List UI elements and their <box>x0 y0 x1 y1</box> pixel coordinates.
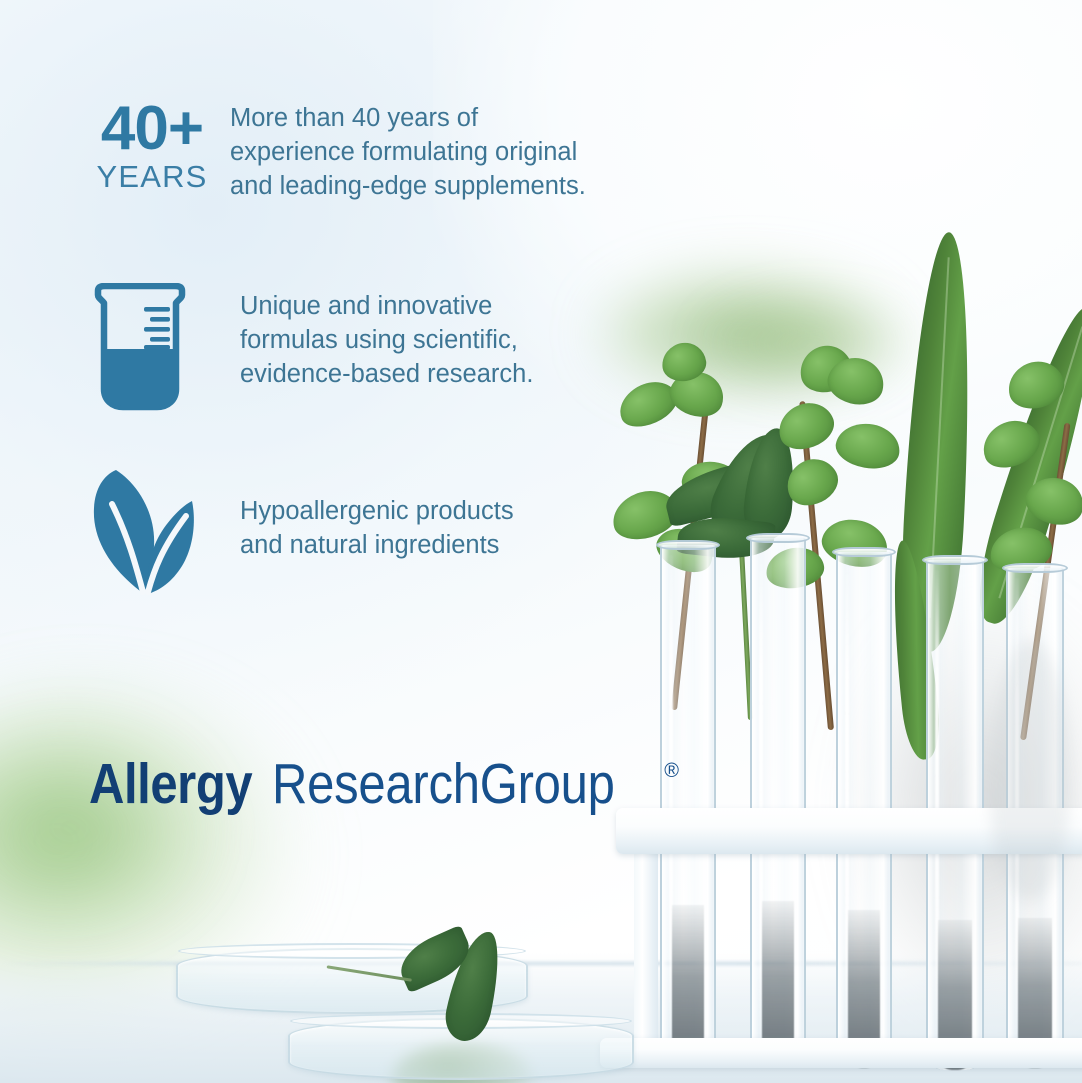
feature-formulas-text: Unique and innovative formulas using sci… <box>240 283 533 392</box>
feature-formulas: Unique and innovative formulas using sci… <box>88 283 533 418</box>
feature-years: 40+ YEARS More than 40 years of experien… <box>88 100 586 204</box>
registered-trademark-icon: ® <box>664 760 679 782</box>
test-tube-4-rim <box>922 555 988 565</box>
feature-hypoallergenic-line-1: Hypoallergenic products <box>240 495 514 529</box>
feature-formulas-line-3: evidence-based research. <box>240 358 533 392</box>
marketing-panel: 40+ YEARS More than 40 years of experien… <box>0 0 1082 1083</box>
feature-hypoallergenic: Hypoallergenic products and natural ingr… <box>88 468 514 601</box>
test-tube-2-rim <box>746 533 810 543</box>
feature-formulas-line-1: Unique and innovative <box>240 290 533 324</box>
brand-logo: AllergyResearchGroup® <box>89 756 685 813</box>
feature-hypoallergenic-line-2: and natural ingredients <box>240 529 514 563</box>
years-word: YEARS <box>96 161 207 192</box>
feature-years-line-2: experience formulating original <box>230 136 586 170</box>
beaker-icon <box>88 283 192 418</box>
years-badge-icon: 40+ YEARS <box>88 100 216 192</box>
years-number: 40+ <box>101 100 203 157</box>
feature-years-text: More than 40 years of experience formula… <box>230 100 586 204</box>
feature-years-line-3: and leading-edge supplements. <box>230 170 586 204</box>
brand-logo-researchgroup: ResearchGroup <box>272 756 615 813</box>
rack-base-bar <box>600 1038 1082 1068</box>
test-tube-1-rim <box>656 540 720 550</box>
plant-leaf-3d <box>833 419 904 473</box>
brand-logo-allergy: Allergy <box>89 756 252 813</box>
two-leaves-icon <box>88 468 198 601</box>
test-tube-3-rim <box>832 547 896 557</box>
feature-years-line-1: More than 40 years of <box>230 102 586 136</box>
test-tube-5-rim <box>1002 563 1068 573</box>
feature-formulas-line-2: formulas using scientific, <box>240 324 533 358</box>
feature-list: 40+ YEARS More than 40 years of experien… <box>0 0 640 1083</box>
feature-hypoallergenic-text: Hypoallergenic products and natural ingr… <box>240 468 514 563</box>
test-tube-2 <box>750 538 806 1066</box>
